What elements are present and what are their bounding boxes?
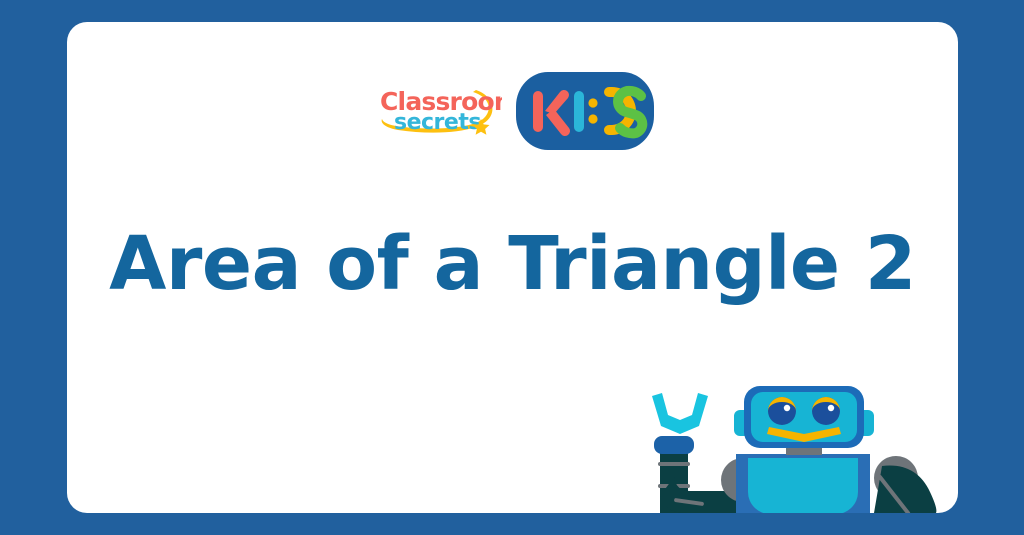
slide-canvas: Classroom secrets: [0, 0, 1024, 535]
page-title: Area of a Triangle 2: [67, 218, 958, 310]
robot-body-panel: [748, 458, 858, 513]
robot-left-arm: [652, 393, 740, 513]
robot-left-wrist-cuff: [654, 436, 694, 454]
robot-right-arm: [874, 456, 936, 513]
robot-claw-icon: [652, 393, 708, 434]
robot-left-eye: [768, 397, 796, 425]
classroom-secrets-logo: Classroom secrets: [372, 83, 502, 139]
slide-card: Classroom secrets: [67, 22, 958, 513]
kids-letter-i: [574, 91, 584, 132]
robot-head: [744, 386, 864, 448]
robot-body: [736, 454, 870, 513]
kids-logo: [516, 72, 654, 150]
robot-mascot: [630, 378, 958, 513]
classroom-secrets-line2: secrets: [394, 110, 481, 135]
robot-right-eye: [812, 397, 840, 425]
branding-row: Classroom secrets: [67, 70, 958, 152]
